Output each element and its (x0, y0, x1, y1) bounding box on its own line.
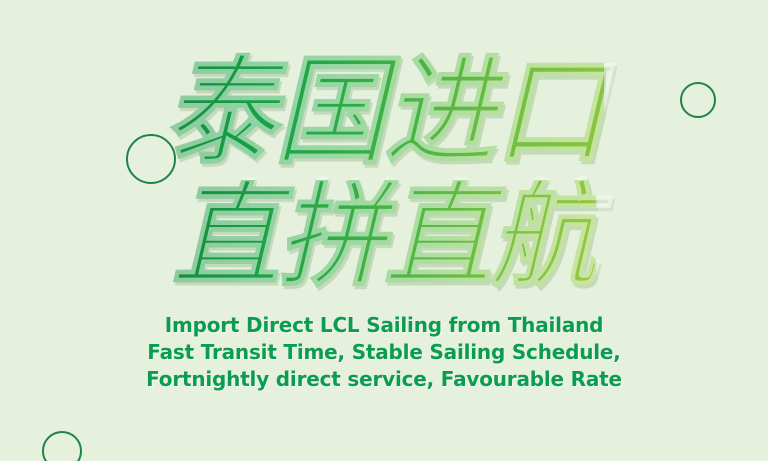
subtitle-block: Import Direct LCL Sailing from Thailand … (0, 312, 768, 393)
subtitle-line-1: Import Direct LCL Sailing from Thailand (0, 312, 768, 339)
headline-line-1-text: 泰国进口 (164, 53, 604, 172)
subtitle-line-3: Fortnightly direct service, Favourable R… (0, 366, 768, 393)
headline-line-2: 直拼直航 (0, 183, 768, 291)
decorative-circle-icon (42, 431, 82, 461)
promo-banner: 泰国进口 直拼直航 Import Direct LCL Sailing from… (0, 0, 768, 461)
headline-line-1: 泰国进口 (0, 56, 768, 168)
subtitle-line-2: Fast Transit Time, Stable Sailing Schedu… (0, 339, 768, 366)
headline-line-2-text: 直拼直航 (172, 180, 596, 294)
